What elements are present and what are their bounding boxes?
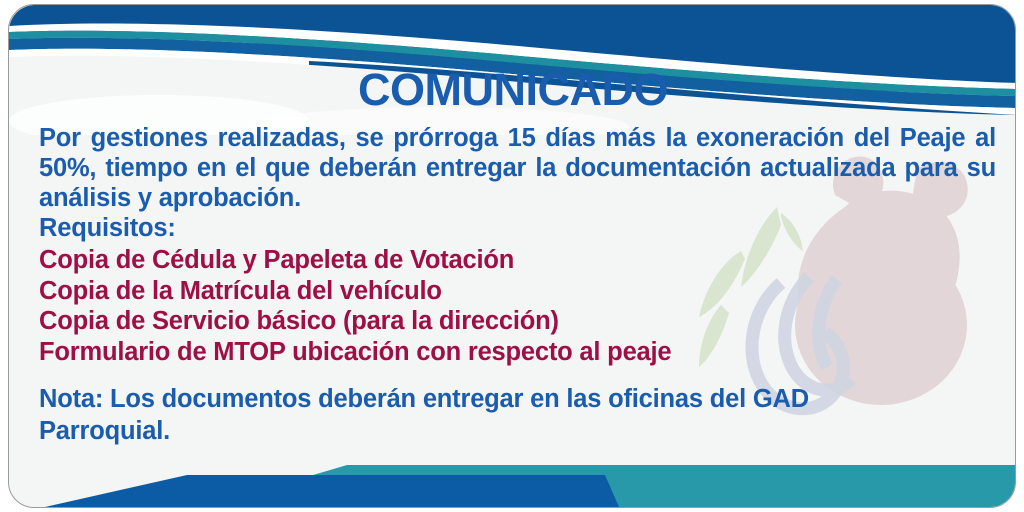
- requisitos-label: Requisitos:: [31, 213, 999, 243]
- footer-angled-band: [9, 445, 1016, 507]
- requisitos-list: Copia de Cédula y Papeleta de Votación C…: [31, 245, 999, 367]
- announcement-paragraph: Por gestiones realizadas, se prórroga 15…: [31, 123, 999, 213]
- list-item: Copia de la Matrícula del vehículo: [39, 276, 999, 307]
- note-text: Nota: Los documentos deberán entregar en…: [31, 383, 869, 447]
- list-item: Copia de Servicio básico (para la direcc…: [39, 306, 999, 337]
- page-title: COMUNICADO: [9, 67, 1016, 112]
- announcement-content: Por gestiones realizadas, se prórroga 15…: [31, 123, 999, 447]
- announcement-card: COMUNICADO Por gestiones realizadas, se …: [8, 4, 1016, 508]
- list-item: Copia de Cédula y Papeleta de Votación: [39, 245, 999, 276]
- list-item: Formulario de MTOP ubicación con respect…: [39, 337, 999, 368]
- poster-canvas: COMUNICADO Por gestiones realizadas, se …: [0, 0, 1024, 512]
